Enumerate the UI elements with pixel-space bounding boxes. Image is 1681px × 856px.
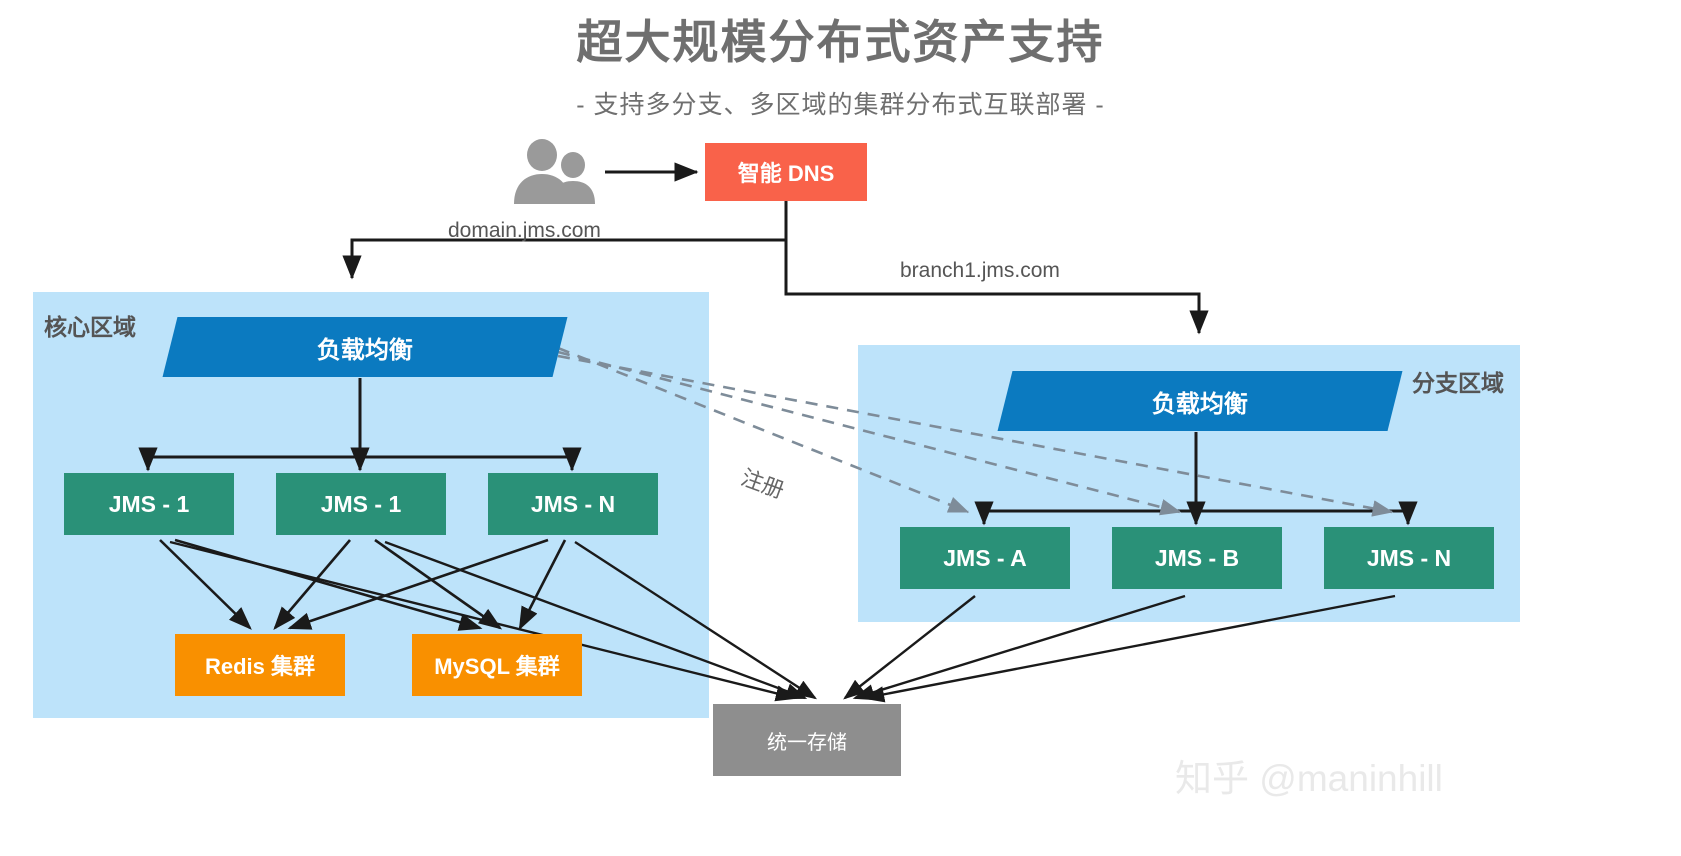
branch-jms-node-a[interactable]: JMS - A [900,527,1070,589]
branch-load-balancer-label: 负载均衡 [1152,384,1248,419]
core-load-balancer[interactable]: 负载均衡 [163,317,568,377]
unified-storage-label: 统一存储 [767,726,847,755]
branch-region-label: 分支区域 [1412,364,1504,398]
core-region-label: 核心区域 [44,308,136,342]
branch-load-balancer[interactable]: 负载均衡 [998,371,1403,431]
core-load-balancer-label: 负载均衡 [317,330,413,365]
core-jms-label-2: JMS - 1 [321,491,402,518]
diagram-canvas: 超大规模分布式资产支持 - 支持多分支、多区域的集群分布式互联部署 - [0,0,1681,856]
edge-label-domain-branch: branch1.jms.com [900,259,1060,283]
mysql-cluster-label: MySQL 集群 [434,649,560,681]
dns-node[interactable]: 智能 DNS [705,143,867,201]
edge-label-domain-core: domain.jms.com [448,219,601,243]
redis-cluster-node[interactable]: Redis 集群 [175,634,345,696]
branch-jms-node-b[interactable]: JMS - B [1112,527,1282,589]
watermark: 知乎 @maninhill [1175,748,1443,802]
core-jms-node-1[interactable]: JMS - 1 [64,473,234,535]
dns-label: 智能 DNS [738,156,835,188]
branch-jms-label-a: JMS - A [943,545,1027,572]
users-icon [500,138,600,204]
core-jms-node-3[interactable]: JMS - N [488,473,658,535]
core-jms-label-3: JMS - N [531,491,615,518]
redis-cluster-label: Redis 集群 [205,649,315,681]
core-jms-label-1: JMS - 1 [109,491,190,518]
core-jms-node-2[interactable]: JMS - 1 [276,473,446,535]
branch-jms-node-n[interactable]: JMS - N [1324,527,1494,589]
mysql-cluster-node[interactable]: MySQL 集群 [412,634,582,696]
unified-storage-node[interactable]: 统一存储 [713,704,901,776]
branch-jms-label-b: JMS - B [1155,545,1239,572]
branch-jms-label-n: JMS - N [1367,545,1451,572]
